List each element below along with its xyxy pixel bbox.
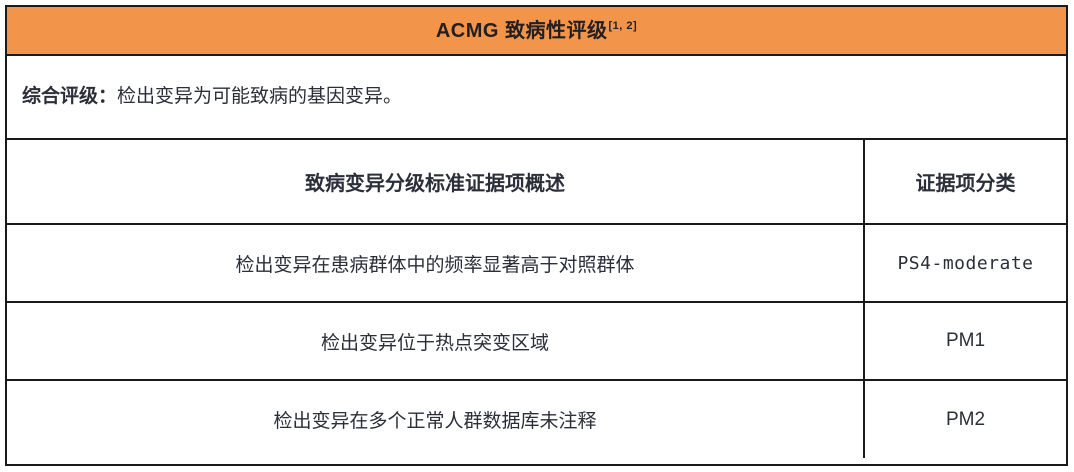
report-title-citation: [1, 2]: [608, 20, 637, 32]
evidence-description: 检出变异在多个正常人群数据库未注释: [7, 380, 864, 458]
overall-rating-line: 综合评级：检出变异为可能致病的基因变异。: [22, 84, 402, 111]
page-title: ACMG 致病性评级[1, 2]: [436, 21, 637, 41]
evidence-category: PS4-moderate: [864, 224, 1066, 302]
evidence-description: 检出变异位于热点突变区域: [7, 302, 864, 380]
overall-rating-row: 综合评级：检出变异为可能致病的基因变异。: [7, 56, 1066, 140]
table-row: 检出变异在患病群体中的频率显著高于对照群体 PS4-moderate: [7, 224, 1066, 302]
report-title-bar: ACMG 致病性评级[1, 2]: [7, 7, 1066, 56]
evidence-table: 致病变异分级标准证据项概述 证据项分类 检出变异在患病群体中的频率显著高于对照群…: [7, 140, 1066, 458]
column-header-description: 致病变异分级标准证据项概述: [7, 140, 864, 224]
acmg-report-card: ACMG 致病性评级[1, 2] 综合评级：检出变异为可能致病的基因变异。 致病…: [5, 5, 1068, 466]
column-header-category: 证据项分类: [864, 140, 1066, 224]
evidence-table-header-row: 致病变异分级标准证据项概述 证据项分类: [7, 140, 1066, 224]
evidence-category: PM2: [864, 380, 1066, 458]
evidence-description: 检出变异在患病群体中的频率显著高于对照群体: [7, 224, 864, 302]
evidence-category: PM1: [864, 302, 1066, 380]
evidence-table-body: 致病变异分级标准证据项概述 证据项分类 检出变异在患病群体中的频率显著高于对照群…: [7, 140, 1066, 458]
overall-rating-label: 综合评级：: [22, 86, 117, 107]
table-row: 检出变异在多个正常人群数据库未注释 PM2: [7, 380, 1066, 458]
report-title-text: ACMG 致病性评级: [436, 20, 608, 42]
table-row: 检出变异位于热点突变区域 PM1: [7, 302, 1066, 380]
overall-rating-value: 检出变异为可能致病的基因变异。: [117, 86, 402, 107]
